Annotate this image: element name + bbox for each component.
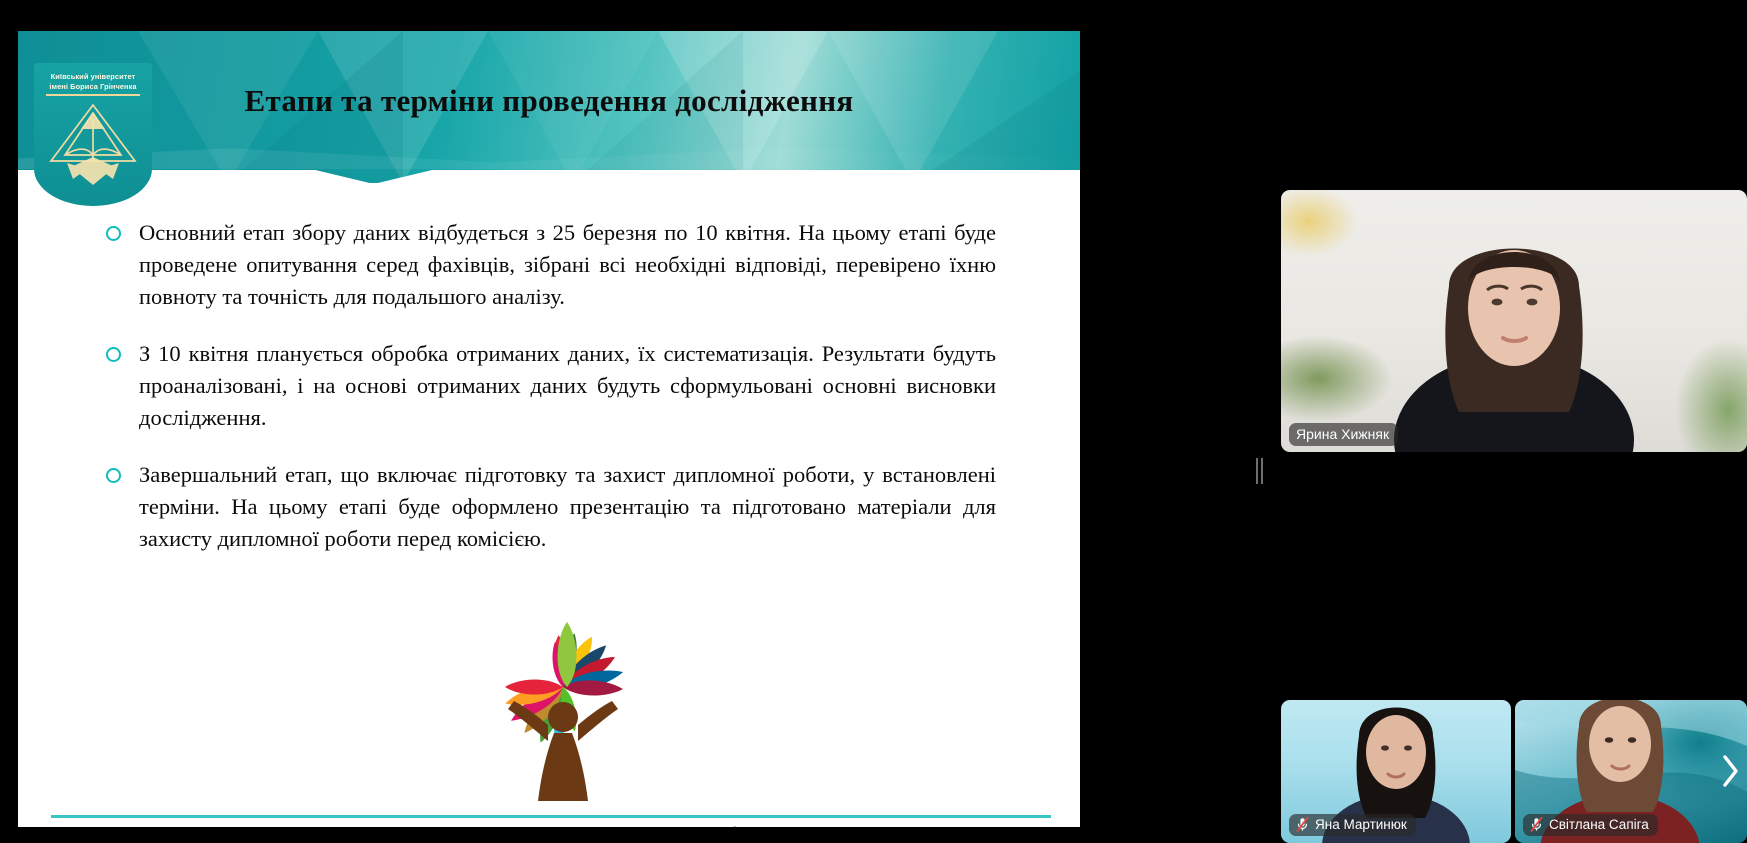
drag-handle-bar [1261, 458, 1263, 484]
bullet-ring-icon [106, 468, 121, 483]
participant-name: Світлана Сапіга [1549, 817, 1649, 832]
slide-footer-rule [51, 815, 1051, 818]
panel-drag-handle[interactable] [1256, 458, 1263, 484]
bullet-ring-icon [106, 226, 121, 241]
bullet-text: З 10 квітня планується обробка отриманих… [139, 338, 996, 434]
presentation-slide[interactable]: Етапи та терміни проведення дослідження … [18, 31, 1080, 827]
bullet-text: Основний етап збору даних відбудеться з … [139, 217, 996, 313]
list-item: З 10 квітня планується обробка отриманих… [106, 338, 996, 434]
list-item: Завершальний етап, що включає підготовку… [106, 459, 996, 555]
list-item: Основний етап збору даних відбудеться з … [106, 217, 996, 313]
conference-stage: Етапи та терміни проведення дослідження … [0, 0, 1747, 843]
participant-tile-1[interactable]: Яна Мартинюк [1281, 700, 1511, 843]
mouse-pointer-icon [734, 826, 748, 827]
video-feed-person [1281, 190, 1747, 452]
participant-video-rail: Ярина Хижняк [1281, 0, 1747, 843]
page-title: Етапи та терміни проведення дослідження [18, 83, 1080, 119]
shared-screen-area: Етапи та терміни проведення дослідження … [0, 0, 1240, 843]
logo-divider [46, 94, 140, 96]
video-feed [1281, 190, 1747, 452]
logo-line-1: Київський університет [51, 72, 136, 81]
bullet-ring-icon [106, 347, 121, 362]
participant-name-badge: Ярина Хижняк [1289, 423, 1398, 446]
logo-emblem-icon [43, 99, 143, 197]
logo-line-2: імені Бориса Грінченка [49, 82, 136, 91]
drag-handle-bar [1256, 458, 1258, 484]
university-logo: Київський університет імені Бориса Грінч… [34, 63, 152, 206]
sdg-tree-illustration [448, 609, 678, 809]
microphone-muted-icon [1530, 817, 1543, 832]
participant-name: Яна Мартинюк [1315, 817, 1407, 832]
participant-name-badge: Світлана Сапіга [1523, 814, 1658, 836]
participant-name-badge: Яна Мартинюк [1289, 814, 1416, 836]
next-participants-button[interactable] [1713, 742, 1747, 800]
microphone-muted-icon [1296, 817, 1309, 832]
university-logo-text: Київський університет імені Бориса Грінч… [34, 72, 152, 92]
participant-tile-main[interactable]: Ярина Хижняк [1281, 190, 1747, 452]
slide-bullet-list: Основний етап збору даних відбудеться з … [106, 217, 996, 580]
bullet-text: Завершальний етап, що включає підготовку… [139, 459, 996, 555]
chevron-right-icon [1720, 754, 1740, 788]
participant-name: Ярина Хижняк [1296, 426, 1389, 442]
